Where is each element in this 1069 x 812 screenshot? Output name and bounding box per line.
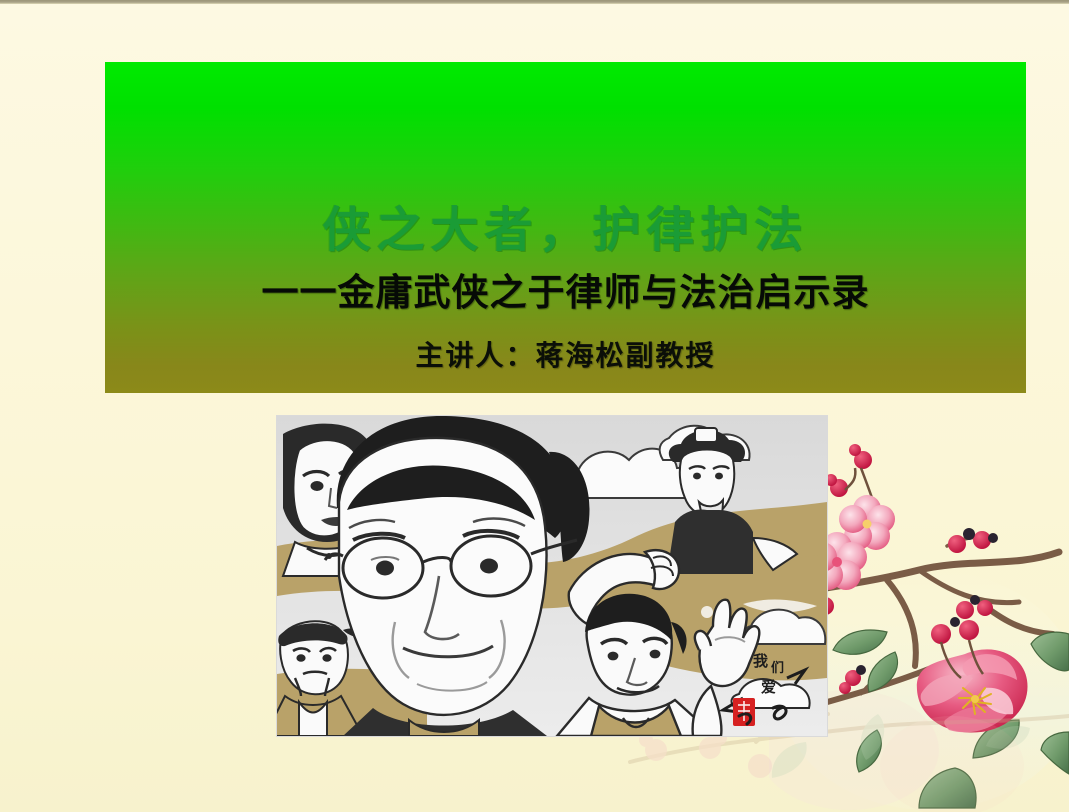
jin-yong-wuxia-characters-illustration: 我 们 爱 — [276, 415, 828, 737]
svg-text:我: 我 — [753, 652, 768, 670]
svg-text:们: 们 — [771, 660, 784, 676]
svg-text:爱: 爱 — [761, 678, 776, 696]
page-title: 侠之大者，护律护法 — [105, 190, 1026, 260]
presentation-slide: 侠之大者，护律护法 一一金庸武侠之于律师与法治启示录 主讲人：蒋海松副教授 — [0, 0, 1069, 812]
title-banner: 侠之大者，护律护法 一一金庸武侠之于律师与法治启示录 主讲人：蒋海松副教授 — [105, 62, 1026, 393]
presenter-line: 主讲人：蒋海松副教授 — [105, 334, 1026, 374]
page-subtitle: 一一金庸武侠之于律师与法治启示录 — [105, 262, 1026, 316]
